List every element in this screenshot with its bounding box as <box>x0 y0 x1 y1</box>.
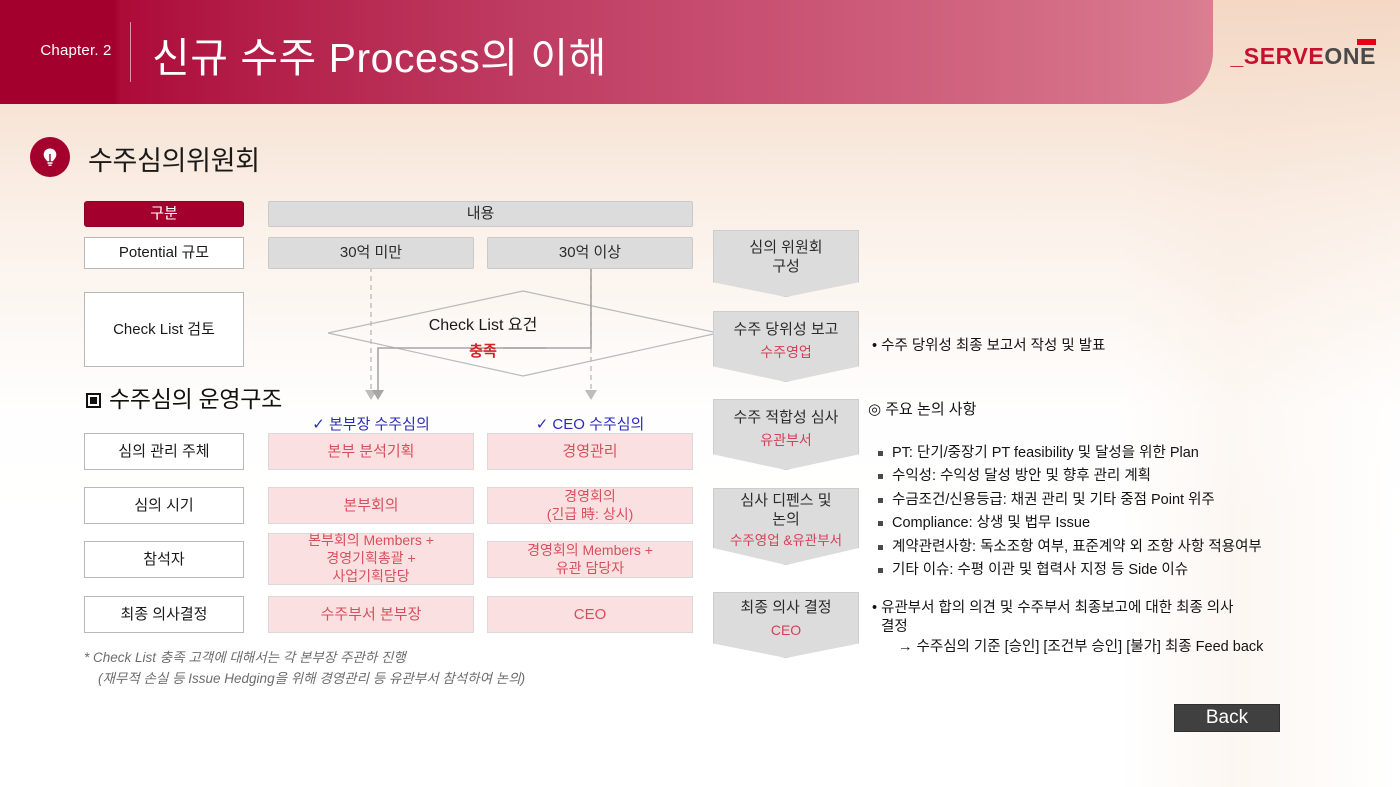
flow-step-3[interactable]: 심사 디펜스 및 논의 수주영업 &유관부서 <box>713 488 859 565</box>
decision-note-line-2: 결정 <box>881 617 1351 639</box>
footnote: * Check List 충족 고객에 대해서는 각 본부장 주관하 진행 (재… <box>84 648 704 690</box>
topics-list: PT: 단기/중장기 PT feasibility 및 달성을 위한 Plan … <box>876 442 1346 583</box>
footnote-line-1: * Check List 충족 고객에 대해서는 각 본부장 주관하 진행 <box>84 650 406 665</box>
flow-step-2-owner: 유관부서 <box>760 432 812 450</box>
struct-row-ceo-0: 경영관리 <box>487 433 693 470</box>
struct-row-label-3: 최종 의사결정 <box>84 596 244 633</box>
chapter-label: Chapter. 2 <box>22 42 130 59</box>
flow-step-4-title: 최종 의사 결정 <box>740 599 831 618</box>
struct-row-label-2: 참석자 <box>84 541 244 578</box>
topic-item: 기타 이슈: 수평 이관 및 협력사 지정 등 Side 이슈 <box>876 559 1346 582</box>
slide-canvas: Chapter. 2 신규 수주 Process의 이해 _SERVEONE 수… <box>0 0 1400 787</box>
struct-row-label-1: 심의 시기 <box>84 487 244 524</box>
struct-row-label-0: 심의 관리 주체 <box>84 433 244 470</box>
flow-step-4-owner: CEO <box>771 622 801 640</box>
logo-dash-mark <box>1357 39 1376 45</box>
topic-item: PT: 단기/중장기 PT feasibility 및 달성을 위한 Plan <box>876 442 1346 465</box>
page-title: 신규 수주 Process의 이해 <box>152 24 607 84</box>
column-head-division-head: ✓ 본부장 수주심의 <box>268 413 474 434</box>
lightbulb-icon <box>30 137 70 177</box>
flow-step-3-owner: 수주영업 &유관부서 <box>730 533 842 550</box>
logo-one-text: ONE <box>1324 43 1376 69</box>
topic-item: Compliance: 상생 및 법무 Issue <box>876 512 1346 535</box>
report-bullet: • 수주 당위성 최종 보고서 작성 및 발표 <box>872 336 1332 358</box>
section-title: 수주심의위원회 <box>88 139 260 178</box>
struct-row-ceo-1: 경영회의 (긴급 時: 상시) <box>487 487 693 524</box>
decision-note-line-3: → 수주심의 기준 [승인] [조건부 승인] [불가] 최종 Feed bac… <box>898 637 1368 659</box>
flow-step-4[interactable]: 최종 의사 결정 CEO <box>713 592 859 658</box>
criteria-header-content: 내용 <box>268 201 693 227</box>
option-over-3bn[interactable]: 30억 이상 <box>487 237 693 269</box>
struct-row-hq-2: 본부회의 Members + 경영기획총괄 + 사업기획담당 <box>268 533 474 585</box>
option-under-3bn[interactable]: 30억 미만 <box>268 237 474 269</box>
struct-row-hq-3: 수주부서 본부장 <box>268 596 474 633</box>
flow-step-1-title: 수주 당위성 보고 <box>734 321 839 340</box>
struct-row-hq-1: 본부회의 <box>268 487 474 524</box>
topic-item: 수금조건/신용등급: 채권 관리 및 기타 중점 Point 위주 <box>876 489 1346 512</box>
flow-step-1[interactable]: 수주 당위성 보고 수주영업 <box>713 311 859 382</box>
struct-row-ceo-3: CEO <box>487 596 693 633</box>
flow-step-0-title: 심의 위원회 구성 <box>749 239 822 277</box>
row-label-checklist-review: Check List 검토 <box>84 292 244 367</box>
criteria-header-category: 구분 <box>84 201 244 227</box>
structure-heading: 수주심의 운영구조 <box>86 380 282 414</box>
diamond-label: Check List 요건 <box>328 311 638 335</box>
back-button[interactable]: Back <box>1174 704 1280 732</box>
column-head-ceo: ✓ CEO 수주심의 <box>487 413 693 434</box>
flow-step-2[interactable]: 수주 적합성 심사 유관부서 <box>713 399 859 470</box>
flow-step-3-title: 심사 디펜스 및 논의 <box>740 492 831 530</box>
row-label-potential-scale: Potential 규모 <box>84 237 244 269</box>
topic-item: 계약관련사항: 독소조항 여부, 표준계약 외 조항 사항 적용여부 <box>876 536 1346 559</box>
structure-heading-label: 수주심의 운영구조 <box>109 386 282 412</box>
logo-underscore: _ <box>1230 43 1243 69</box>
struct-row-ceo-2: 경영회의 Members + 유관 담당자 <box>487 541 693 578</box>
topic-item: 수익성: 수익성 달성 방안 및 향후 관리 계획 <box>876 465 1346 488</box>
header-divider <box>130 22 131 82</box>
logo-serve-text: SERVE <box>1244 43 1325 69</box>
serveone-logo: _SERVEONE <box>1230 45 1376 75</box>
flow-step-1-owner: 수주영업 <box>760 344 812 362</box>
topics-title: ◎ 주요 논의 사항 <box>868 398 976 419</box>
struct-row-hq-0: 본부 분석기획 <box>268 433 474 470</box>
flow-step-2-title: 수주 적합성 심사 <box>734 409 839 428</box>
square-bullet-icon <box>86 393 101 408</box>
diamond-sub-label: 충족 <box>328 340 638 361</box>
flow-step-0[interactable]: 심의 위원회 구성 <box>713 230 859 297</box>
footnote-line-2: (재무적 손실 등 Issue Hedging을 위해 경영관리 등 유관부서 … <box>84 669 704 690</box>
